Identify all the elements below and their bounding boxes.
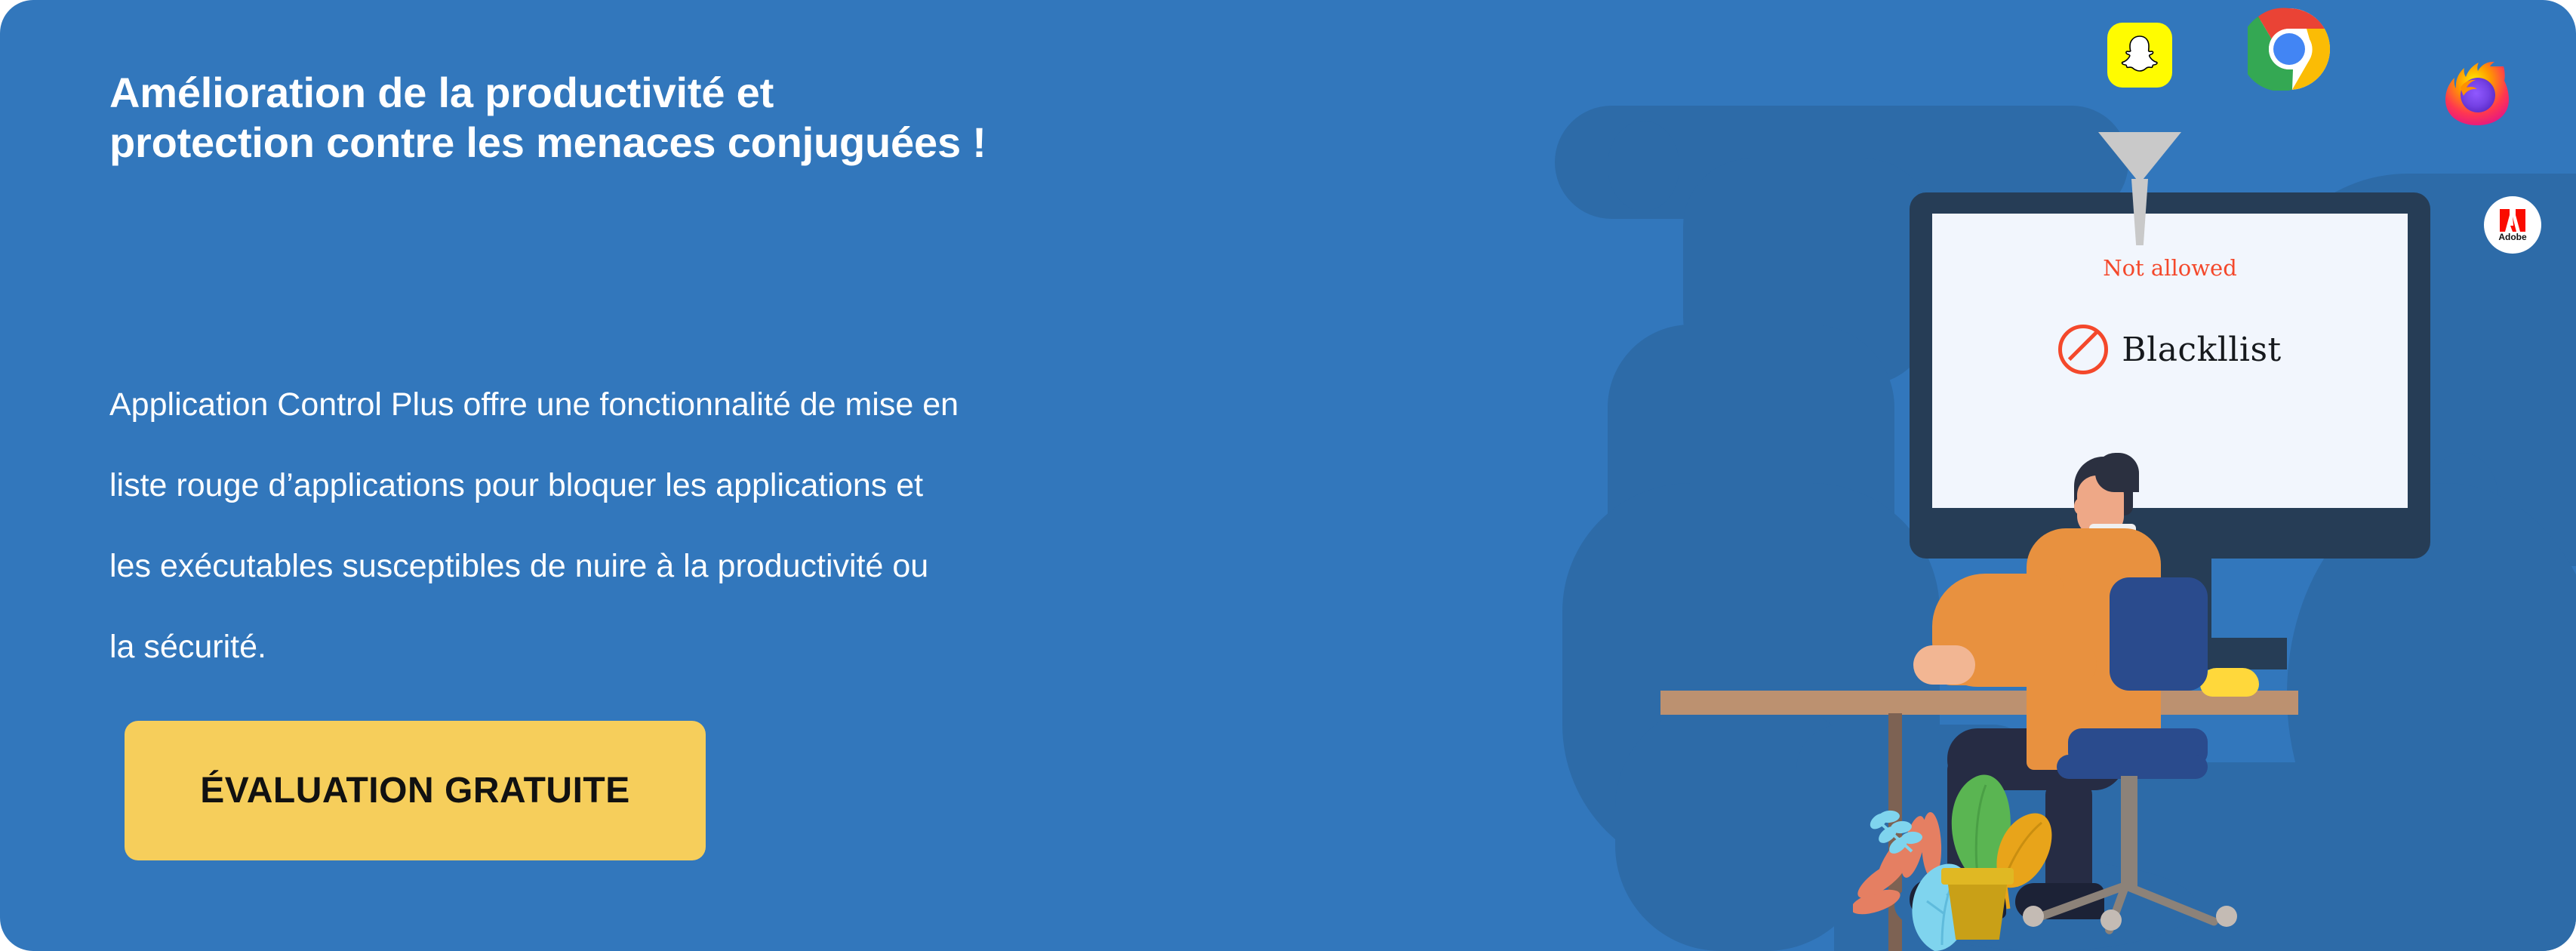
- body-paragraph: Application Control Plus offre une fonct…: [109, 365, 1468, 688]
- plant-pot-rim: [1941, 868, 2014, 885]
- body-line-2: liste rouge d’applications pour bloquer …: [109, 445, 1468, 526]
- blacklist-label: Blackllist: [2122, 331, 2281, 369]
- adobe-wordmark: Adobe: [2498, 232, 2526, 242]
- headline-line-2: protection contre les menaces conjuguées…: [109, 118, 1528, 168]
- snapchat-icon: [2107, 23, 2172, 88]
- desk-surface: [1660, 691, 2298, 715]
- person-hair-front: [2095, 453, 2139, 492]
- person-hand: [1913, 645, 1975, 685]
- computer-mouse: [2200, 668, 2259, 697]
- illustration: Not allowed Blackllist: [1796, 0, 2576, 951]
- not-allowed-text: Not allowed: [1932, 255, 2408, 281]
- adobe-icon: Adobe: [2484, 196, 2541, 254]
- banner-copy: Amélioration de la productivité et prote…: [109, 0, 1543, 951]
- promo-banner: Amélioration de la productivité et prote…: [0, 0, 2576, 951]
- headline-line-1: Amélioration de la productivité et: [109, 68, 1528, 118]
- no-entry-icon: [2058, 325, 2108, 374]
- page-title: Amélioration de la productivité et prote…: [109, 68, 1528, 168]
- chrome-icon: [2248, 8, 2331, 91]
- person-ear: [2074, 498, 2086, 515]
- decorative-plant: [1853, 725, 2102, 951]
- blacklist-row: Blackllist: [1932, 325, 2408, 374]
- plant-pot: [1947, 879, 2008, 940]
- chair-caster: [2216, 906, 2237, 927]
- background-dot: [1608, 121, 1679, 211]
- free-trial-button[interactable]: ÉVALUATION GRATUITE: [125, 721, 706, 860]
- body-line-3: les exécutables susceptibles de nuire à …: [109, 526, 1468, 607]
- firefox-icon: [2440, 51, 2514, 125]
- chair-backrest: [2110, 577, 2208, 691]
- body-line-1: Application Control Plus offre une fonct…: [109, 365, 1468, 445]
- chair-caster: [2101, 909, 2122, 931]
- chair-pole: [2121, 776, 2137, 889]
- body-line-4: la sécurité.: [109, 607, 1468, 688]
